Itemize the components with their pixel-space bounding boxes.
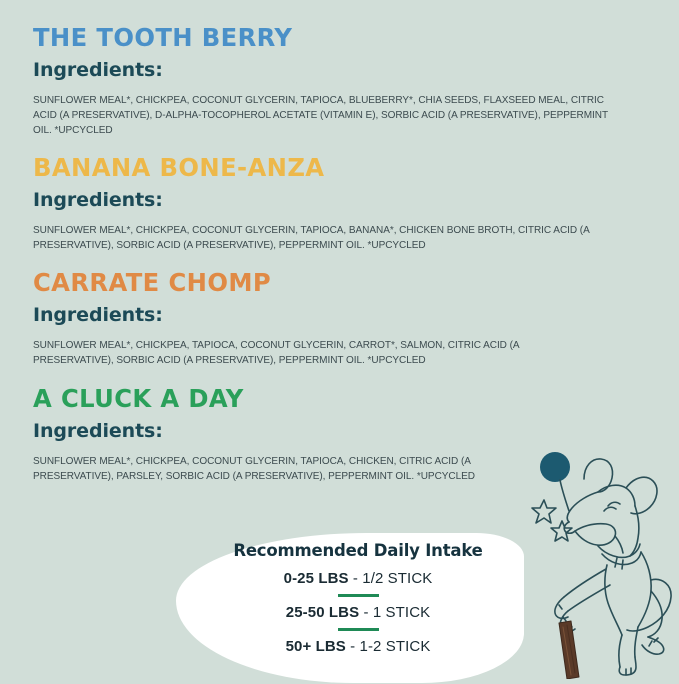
product-section-banana-bone-anza: BANANA BONE-ANZA Ingredients: SUNFLOWER … — [33, 154, 653, 253]
star-large-icon — [532, 500, 556, 523]
intake-divider — [338, 628, 379, 631]
product-title: BANANA BONE-ANZA — [33, 154, 634, 182]
product-section-carrate-chomp: CARRATE CHOMP Ingredients: SUNFLOWER MEA… — [33, 269, 653, 368]
dog-eye-crease-icon — [604, 507, 616, 511]
ball-balance-line-icon — [560, 480, 569, 511]
intake-row: 50+ LBS - 1-2 STICK — [270, 638, 431, 655]
ingredients-text: SUNFLOWER MEAL*, CHICKPEA, COCONUT GLYCE… — [33, 93, 624, 138]
product-title: CARRATE CHOMP — [33, 269, 634, 297]
dog-hind-leg-icon — [619, 635, 622, 667]
star-small-icon — [551, 521, 572, 541]
product-title: THE TOOTH BERRY — [33, 24, 634, 52]
ingredients-label: Ingredients: — [33, 59, 653, 81]
dog-collar-tag-line-icon — [615, 558, 617, 567]
dog-mouth-icon — [575, 524, 616, 545]
intake-amount: 1 STICK — [373, 604, 430, 621]
dog-collar-tag-line2-icon — [622, 560, 623, 569]
dog-right-ear-icon — [626, 477, 657, 514]
ingredients-text: SUNFLOWER MEAL*, CHICKPEA, COCONUT GLYCE… — [33, 454, 508, 484]
intake-separator: - — [359, 604, 373, 621]
dog-tail-icon — [627, 579, 671, 631]
chew-stick-icon — [559, 621, 579, 679]
dog-chest-icon — [605, 565, 622, 635]
dog-eye-icon — [608, 502, 620, 506]
intake-title: Recommended Daily Intake — [217, 541, 482, 560]
dog-jaw-icon — [615, 536, 623, 553]
intake-separator: - — [349, 570, 363, 587]
product-ingredients-page: THE TOOTH BERRY Ingredients: SUNFLOWER M… — [0, 0, 679, 679]
intake-weight: 25-50 LBS — [286, 604, 359, 621]
ingredients-label: Ingredients: — [33, 420, 653, 442]
intake-content: Recommended Daily Intake 0-25 LBS - 1/2 … — [176, 533, 524, 683]
product-section-tooth-berry: THE TOOTH BERRY Ingredients: SUNFLOWER M… — [33, 24, 653, 138]
dog-raised-toe-2-icon — [649, 641, 652, 646]
dog-muzzle-top-icon — [567, 492, 598, 522]
intake-weight: 50+ LBS — [286, 638, 346, 655]
dog-raised-paw-icon — [642, 637, 664, 654]
recommended-daily-intake-panel: Recommended Daily Intake 0-25 LBS - 1/2 … — [176, 533, 524, 683]
ingredients-label: Ingredients: — [33, 304, 653, 326]
intake-weight: 0-25 LBS — [284, 570, 349, 587]
intake-row: 25-50 LBS - 1 STICK — [270, 604, 430, 621]
product-list: THE TOOTH BERRY Ingredients: SUNFLOWER M… — [33, 24, 653, 500]
ingredients-label: Ingredients: — [33, 189, 653, 211]
dog-back-icon — [638, 552, 651, 627]
ingredients-text: SUNFLOWER MEAL*, CHICKPEA, COCONUT GLYCE… — [33, 223, 602, 253]
dog-front-leg-upper-icon — [564, 569, 606, 597]
dog-hind-paw-icon — [619, 657, 636, 675]
intake-amount: 1-2 STICK — [360, 638, 431, 655]
dog-illustration — [522, 445, 674, 679]
ball-icon — [540, 452, 570, 482]
dog-toe-1-icon — [559, 605, 562, 609]
ingredients-text: SUNFLOWER MEAL*, CHICKPEA, TAPIOCA, COCO… — [33, 338, 598, 368]
intake-divider — [338, 594, 379, 597]
intake-row: 0-25 LBS - 1/2 STICK — [268, 570, 433, 587]
product-title: A CLUCK A DAY — [33, 385, 634, 413]
intake-amount: 1/2 STICK — [362, 570, 432, 587]
intake-separator: - — [346, 638, 360, 655]
